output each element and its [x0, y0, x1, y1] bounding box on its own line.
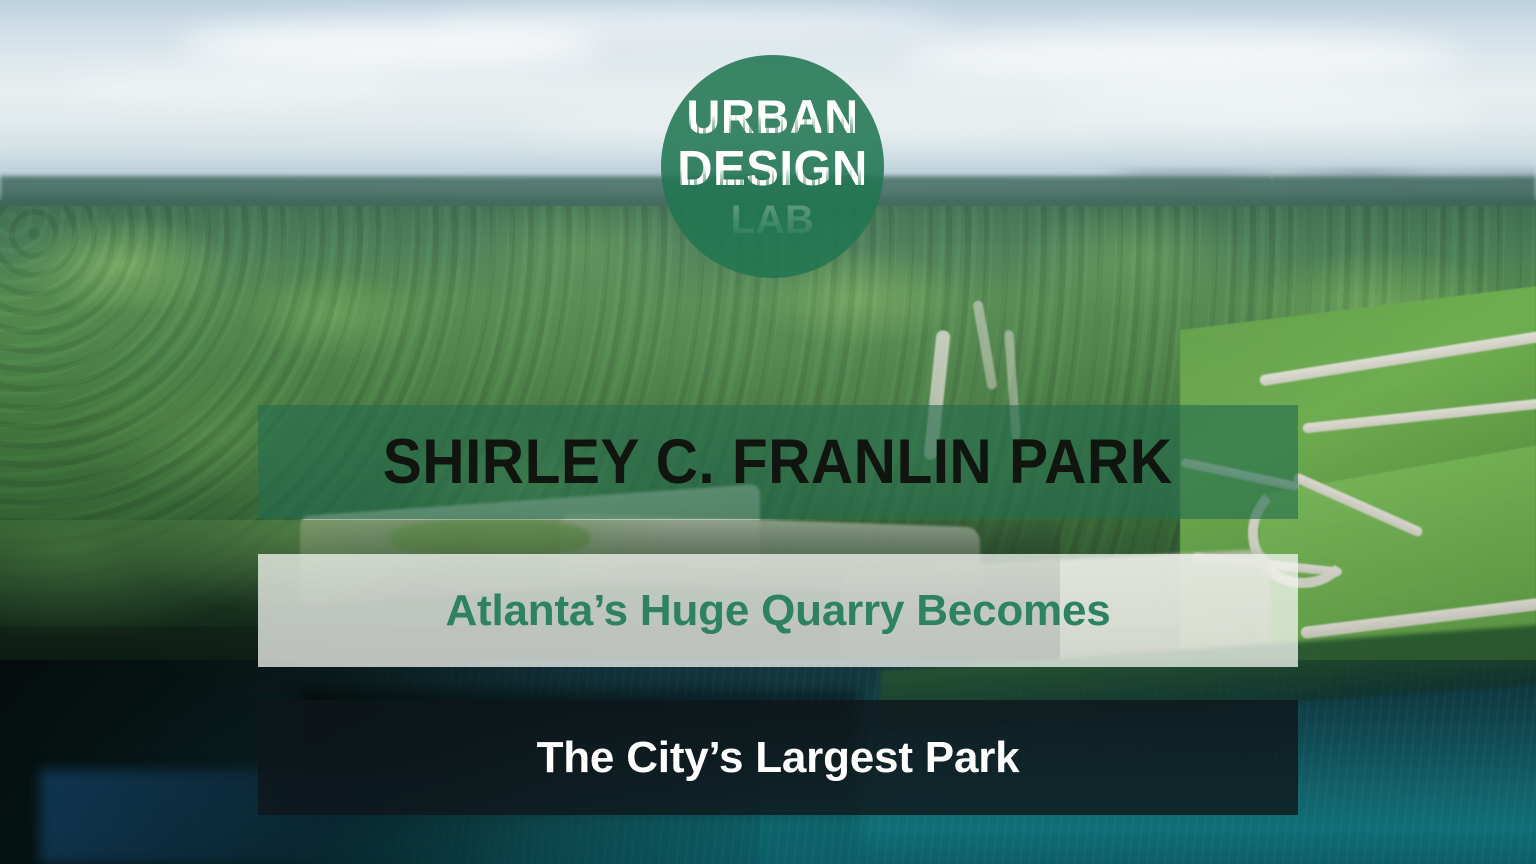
page-title: SHIRLEY C. FRANLIN PARK	[383, 426, 1173, 498]
logo-line-design: DESIGN	[677, 145, 868, 194]
logo-line-lab: LAB	[731, 200, 815, 240]
cloud	[430, 8, 950, 42]
title-band: SHIRLEY C. FRANLIN PARK	[258, 405, 1298, 519]
urban-design-lab-logo[interactable]: URBAN DESIGN LAB	[661, 55, 884, 278]
subtitle-band-primary: Atlanta’s Huge Quarry Becomes	[258, 554, 1298, 667]
cloud	[900, 30, 1460, 82]
subtitle-band-secondary: The City’s Largest Park	[258, 700, 1298, 815]
cloud	[60, 70, 400, 100]
slide-canvas: URBAN DESIGN LAB SHIRLEY C. FRANLIN PARK…	[0, 0, 1536, 864]
subtitle-line-1: Atlanta’s Huge Quarry Becomes	[445, 586, 1110, 636]
subtitle-line-2: The City’s Largest Park	[537, 733, 1020, 783]
logo-line-urban: URBAN	[686, 93, 858, 140]
